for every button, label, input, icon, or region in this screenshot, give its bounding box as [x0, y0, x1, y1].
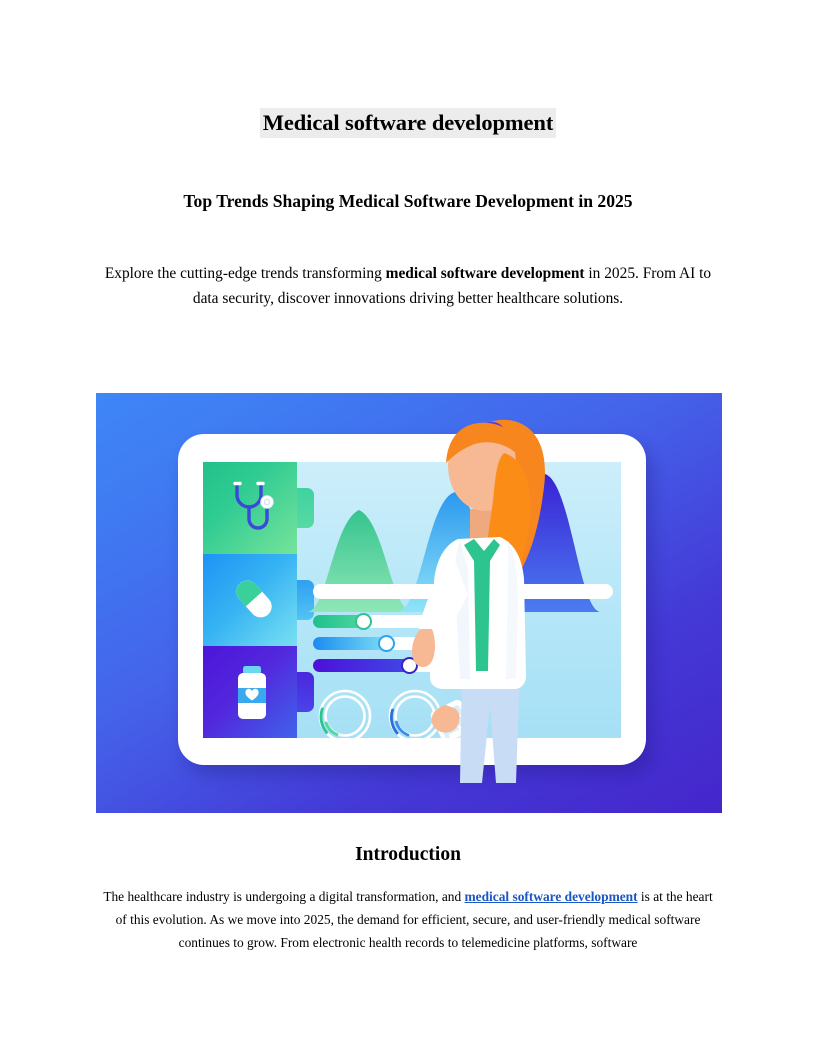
lead-text-before: Explore the cutting-edge trends transfor… — [105, 265, 386, 282]
introduction-paragraph: The healthcare industry is undergoing a … — [99, 885, 717, 955]
hero-illustration — [96, 393, 722, 813]
page-title: Medical software development — [96, 110, 720, 136]
slider-green-knob[interactable] — [355, 613, 372, 630]
article-subtitle-heading: Top Trends Shaping Medical Software Deve… — [96, 191, 720, 212]
introduction-heading: Introduction — [96, 843, 720, 866]
intro-text-before: The healthcare industry is undergoing a … — [103, 889, 464, 904]
progress-ring-green — [315, 686, 375, 738]
pill-capsule-icon — [225, 570, 283, 628]
page-title-text: Medical software development — [260, 108, 556, 138]
medicine-bottle-heart-icon — [229, 662, 275, 724]
doctor-figure — [400, 413, 585, 783]
tile-tab-handle-3 — [297, 672, 314, 712]
stethoscope-icon — [223, 478, 283, 538]
slider-blue-knob[interactable] — [378, 635, 395, 652]
medical-software-development-link[interactable]: medical software development — [465, 889, 638, 904]
lead-paragraph: Explore the cutting-edge trends transfor… — [100, 262, 716, 312]
lead-bold-phrase: medical software development — [386, 265, 585, 282]
document-page: Medical software development Top Trends … — [0, 0, 816, 1056]
slider-violet-fill — [313, 659, 414, 672]
